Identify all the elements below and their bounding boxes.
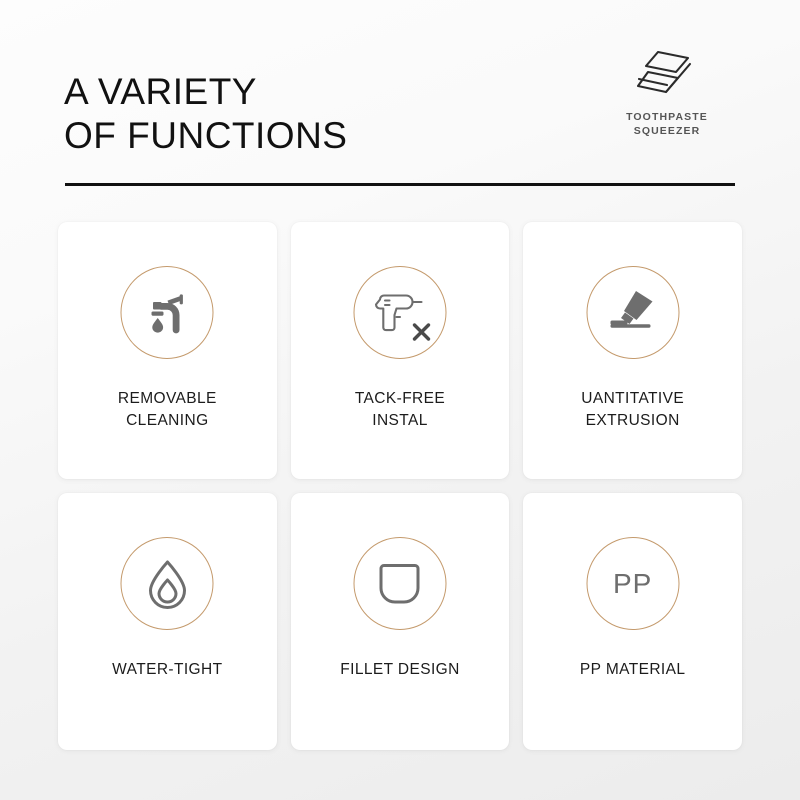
x-mark-icon — [411, 322, 431, 342]
feature-label: UANTITATIVE EXTRUSION — [523, 388, 742, 432]
feature-card[interactable]: WATER-TIGHT — [58, 493, 277, 750]
toothpaste-tube-extrude-icon — [606, 287, 660, 339]
feature-label: PP MATERIAL — [523, 659, 742, 681]
rounded-square-icon — [376, 560, 424, 608]
page-header: A VARIETY OF FUNCTIONS TOOTHPASTE SQUEEZ… — [0, 0, 800, 170]
feature-label: TACK-FREE INSTAL — [291, 388, 510, 432]
brand-name: TOOTHPASTE SQUEEZER — [592, 110, 742, 138]
feature-label: FILLET DESIGN — [291, 659, 510, 681]
feature-card[interactable]: TACK-FREE INSTAL — [291, 222, 510, 479]
feature-grid: REMOVABLE CLEANING TACK-FREE INSTAL — [58, 222, 742, 750]
header-divider — [65, 183, 735, 186]
icon-ring — [121, 266, 214, 359]
brand-logo: TOOTHPASTE SQUEEZER — [592, 48, 742, 138]
feature-label: REMOVABLE CLEANING — [58, 388, 277, 432]
water-droplet-icon — [143, 558, 191, 610]
icon-ring — [121, 537, 214, 630]
icon-ring — [353, 537, 446, 630]
pp-letters-icon: PP — [613, 568, 652, 600]
page-title: A VARIETY OF FUNCTIONS — [64, 70, 347, 158]
faucet-drop-icon — [141, 287, 193, 339]
feature-card[interactable]: REMOVABLE CLEANING — [58, 222, 277, 479]
feature-card[interactable]: PP PP MATERIAL — [523, 493, 742, 750]
stacked-sheets-icon — [592, 48, 742, 101]
feature-label: WATER-TIGHT — [58, 659, 277, 681]
feature-card[interactable]: UANTITATIVE EXTRUSION — [523, 222, 742, 479]
feature-card[interactable]: FILLET DESIGN — [291, 493, 510, 750]
icon-ring — [353, 266, 446, 359]
icon-ring: PP — [586, 537, 679, 630]
icon-ring — [586, 266, 679, 359]
promo-page: A VARIETY OF FUNCTIONS TOOTHPASTE SQUEEZ… — [0, 0, 800, 800]
